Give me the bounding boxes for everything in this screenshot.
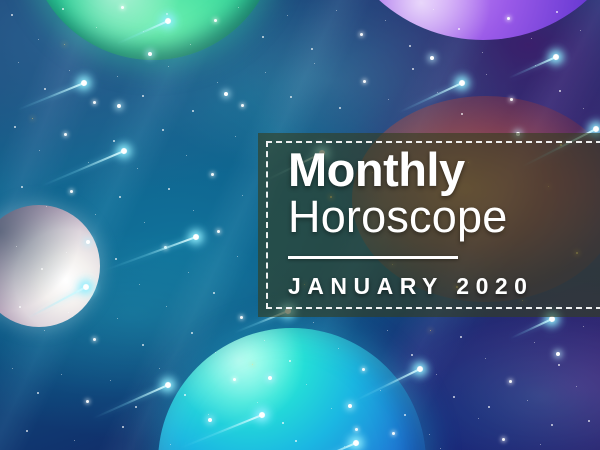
title-heading-horoscope: Horoscope (288, 193, 533, 241)
comet (93, 384, 169, 419)
comet (105, 236, 196, 271)
title-divider-rule (288, 256, 458, 259)
comet (41, 150, 125, 187)
comet (17, 82, 85, 111)
comet (180, 414, 262, 449)
comet (510, 318, 553, 339)
comet (27, 286, 86, 319)
title-text-block: Monthly Horoscope JANUARY 2020 (288, 147, 533, 300)
comet (116, 20, 168, 45)
title-month-label: JANUARY 2020 (288, 273, 533, 300)
comet (508, 56, 556, 79)
horoscope-banner: Monthly Horoscope JANUARY 2020 (0, 0, 600, 450)
title-panel: Monthly Horoscope JANUARY 2020 (258, 133, 600, 317)
title-heading-monthly: Monthly (288, 147, 533, 193)
comet (353, 368, 420, 402)
comet (300, 442, 356, 450)
comet (398, 82, 462, 113)
